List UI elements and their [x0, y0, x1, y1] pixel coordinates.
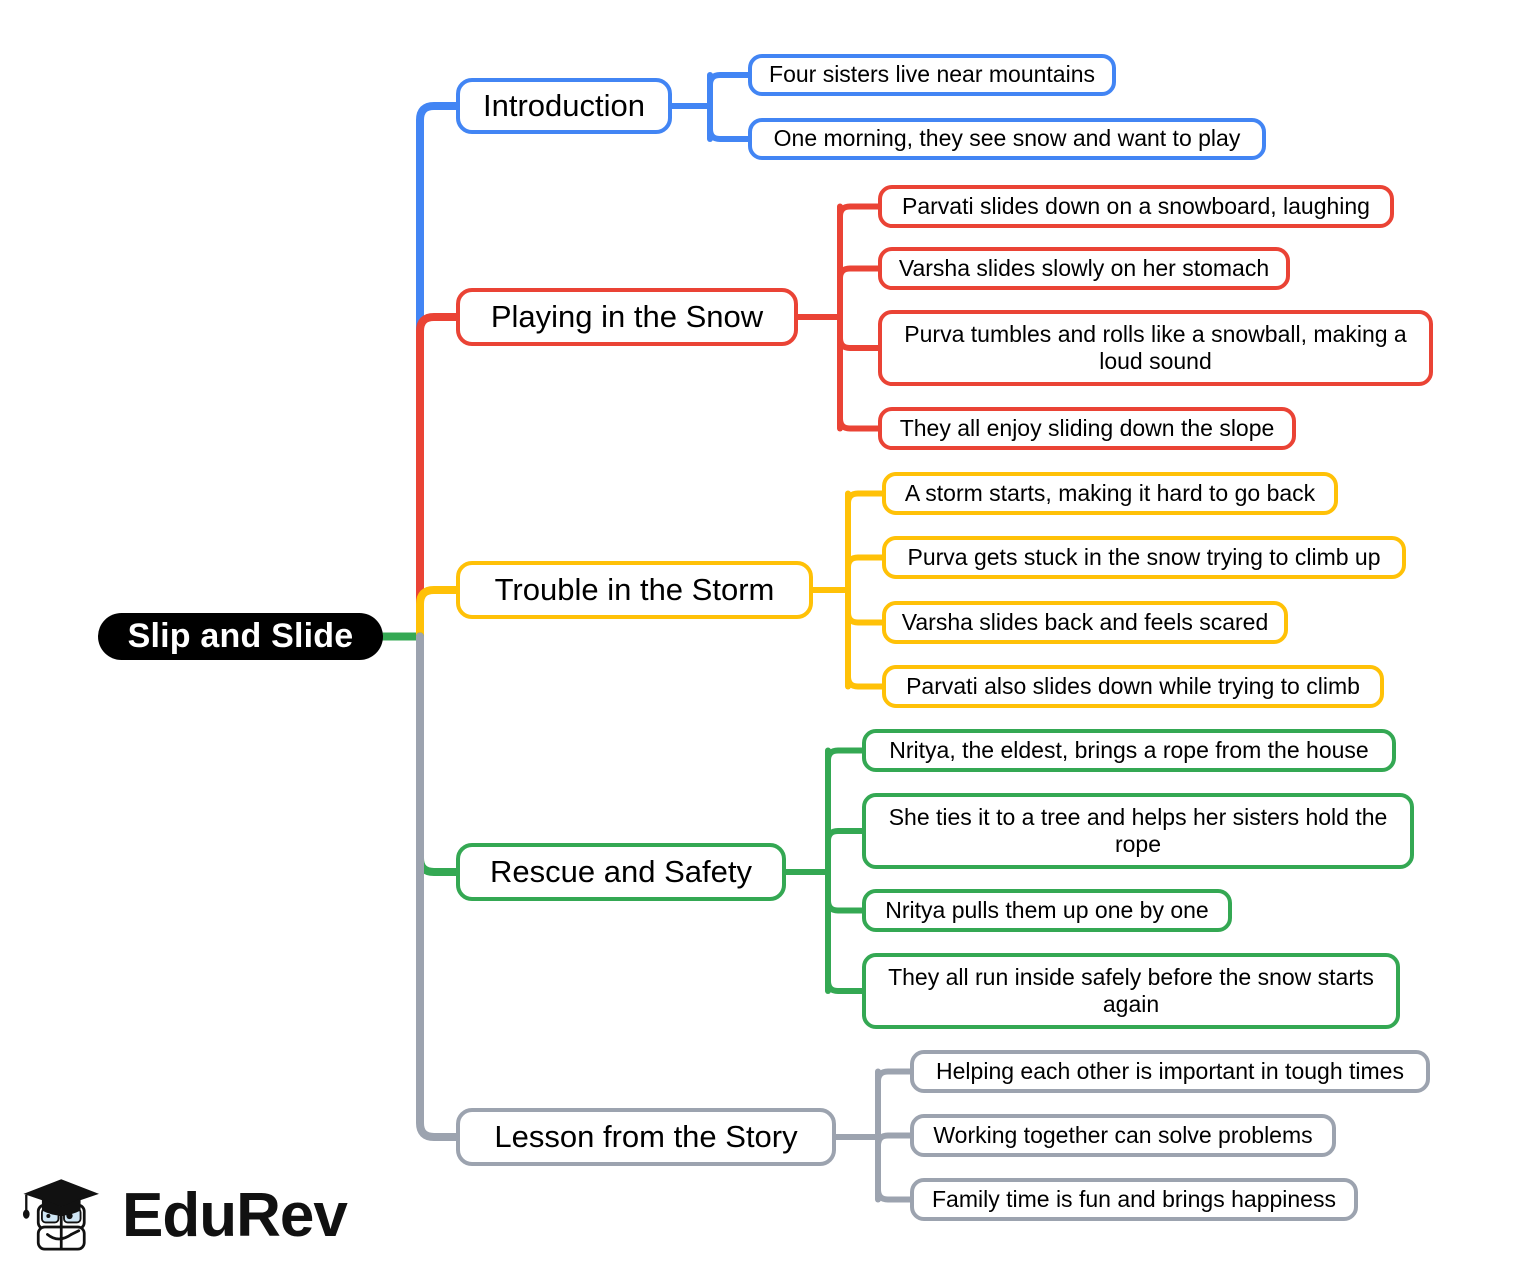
leaf-node-playing-in-the-snow-3-label: Purva tumbles and rolls like a snowball,…: [894, 321, 1417, 375]
connector: [420, 106, 456, 637]
leaf-node-playing-in-the-snow-3[interactable]: Purva tumbles and rolls like a snowball,…: [878, 310, 1433, 386]
branch-node-trouble-in-the-storm[interactable]: Trouble in the Storm: [456, 561, 813, 619]
leaf-node-rescue-and-safety-3[interactable]: Nritya pulls them up one by one: [862, 889, 1232, 932]
leaf-node-rescue-and-safety-2[interactable]: She ties it to a tree and helps her sist…: [862, 793, 1414, 869]
leaf-node-lesson-from-the-story-3[interactable]: Family time is fun and brings happiness: [910, 1178, 1358, 1221]
connector: [710, 75, 748, 85]
leaf-node-trouble-in-the-storm-2-label: Purva gets stuck in the snow trying to c…: [908, 544, 1381, 571]
connector: [840, 338, 878, 348]
connector: [878, 1190, 910, 1200]
connector: [840, 207, 878, 217]
connector: [420, 637, 456, 1138]
leaf-node-trouble-in-the-storm-4[interactable]: Parvati also slides down while trying to…: [882, 665, 1384, 708]
leaf-node-playing-in-the-snow-1-label: Parvati slides down on a snowboard, laug…: [902, 193, 1370, 220]
leaf-node-trouble-in-the-storm-4-label: Parvati also slides down while trying to…: [906, 673, 1360, 700]
connector: [420, 637, 456, 873]
leaf-node-introduction-1-label: Four sisters live near mountains: [769, 61, 1095, 88]
connector: [878, 1072, 910, 1082]
edurev-logo: EduRev: [18, 1168, 318, 1264]
leaf-node-lesson-from-the-story-2-label: Working together can solve problems: [933, 1122, 1312, 1149]
leaf-node-playing-in-the-snow-4-label: They all enjoy sliding down the slope: [900, 415, 1275, 442]
connector: [840, 269, 878, 279]
connector: [420, 590, 456, 637]
connector: [710, 129, 748, 139]
leaf-node-rescue-and-safety-4-label: They all run inside safely before the sn…: [878, 964, 1384, 1018]
root-node[interactable]: Slip and Slide: [98, 613, 383, 660]
leaf-node-introduction-2[interactable]: One morning, they see snow and want to p…: [748, 118, 1266, 160]
leaf-node-rescue-and-safety-4[interactable]: They all run inside safely before the sn…: [862, 953, 1400, 1029]
leaf-node-trouble-in-the-storm-3[interactable]: Varsha slides back and feels scared: [882, 601, 1288, 644]
leaf-node-lesson-from-the-story-2[interactable]: Working together can solve problems: [910, 1114, 1336, 1157]
leaf-node-trouble-in-the-storm-3-label: Varsha slides back and feels scared: [902, 609, 1269, 636]
edurev-wordmark: EduRev: [122, 1185, 347, 1247]
leaf-node-playing-in-the-snow-4[interactable]: They all enjoy sliding down the slope: [878, 407, 1296, 450]
leaf-node-rescue-and-safety-1[interactable]: Nritya, the eldest, brings a rope from t…: [862, 729, 1396, 772]
leaf-node-rescue-and-safety-2-label: She ties it to a tree and helps her sist…: [878, 804, 1398, 858]
branch-node-rescue-and-safety-label: Rescue and Safety: [490, 854, 752, 891]
leaf-node-lesson-from-the-story-1-label: Helping each other is important in tough…: [936, 1058, 1404, 1085]
graduation-cap-book-mascot-icon: [18, 1170, 110, 1262]
leaf-node-introduction-1[interactable]: Four sisters live near mountains: [748, 54, 1116, 96]
leaf-node-lesson-from-the-story-3-label: Family time is fun and brings happiness: [932, 1186, 1336, 1213]
connector: [848, 494, 882, 504]
leaf-node-playing-in-the-snow-2-label: Varsha slides slowly on her stomach: [899, 255, 1269, 282]
leaf-node-rescue-and-safety-3-label: Nritya pulls them up one by one: [885, 897, 1208, 924]
connector: [848, 558, 882, 568]
branch-node-rescue-and-safety[interactable]: Rescue and Safety: [456, 843, 786, 901]
leaf-node-introduction-2-label: One morning, they see snow and want to p…: [774, 125, 1241, 152]
connector: [840, 419, 878, 429]
leaf-node-playing-in-the-snow-1[interactable]: Parvati slides down on a snowboard, laug…: [878, 185, 1394, 228]
connector: [420, 317, 456, 637]
connector: [848, 613, 882, 623]
connector: [828, 981, 862, 991]
branch-node-playing-in-the-snow-label: Playing in the Snow: [491, 299, 763, 336]
connector: [828, 831, 862, 841]
leaf-node-trouble-in-the-storm-2[interactable]: Purva gets stuck in the snow trying to c…: [882, 536, 1406, 579]
branch-node-introduction-label: Introduction: [483, 88, 645, 125]
connector: [878, 1136, 910, 1146]
root-node-label: Slip and Slide: [128, 616, 354, 656]
branch-node-lesson-from-the-story-label: Lesson from the Story: [494, 1119, 797, 1156]
mindmap-canvas: Slip and SlideIntroductionFour sisters l…: [0, 0, 1532, 1273]
branch-node-lesson-from-the-story[interactable]: Lesson from the Story: [456, 1108, 836, 1166]
leaf-node-rescue-and-safety-1-label: Nritya, the eldest, brings a rope from t…: [889, 737, 1368, 764]
connector: [848, 677, 882, 687]
leaf-node-trouble-in-the-storm-1-label: A storm starts, making it hard to go bac…: [905, 480, 1315, 507]
leaf-node-playing-in-the-snow-2[interactable]: Varsha slides slowly on her stomach: [878, 247, 1290, 290]
connector: [828, 901, 862, 911]
leaf-node-trouble-in-the-storm-1[interactable]: A storm starts, making it hard to go bac…: [882, 472, 1338, 515]
branch-node-trouble-in-the-storm-label: Trouble in the Storm: [495, 572, 775, 609]
leaf-node-lesson-from-the-story-1[interactable]: Helping each other is important in tough…: [910, 1050, 1430, 1093]
connector: [828, 751, 862, 761]
branch-node-playing-in-the-snow[interactable]: Playing in the Snow: [456, 288, 798, 346]
branch-node-introduction[interactable]: Introduction: [456, 78, 672, 134]
